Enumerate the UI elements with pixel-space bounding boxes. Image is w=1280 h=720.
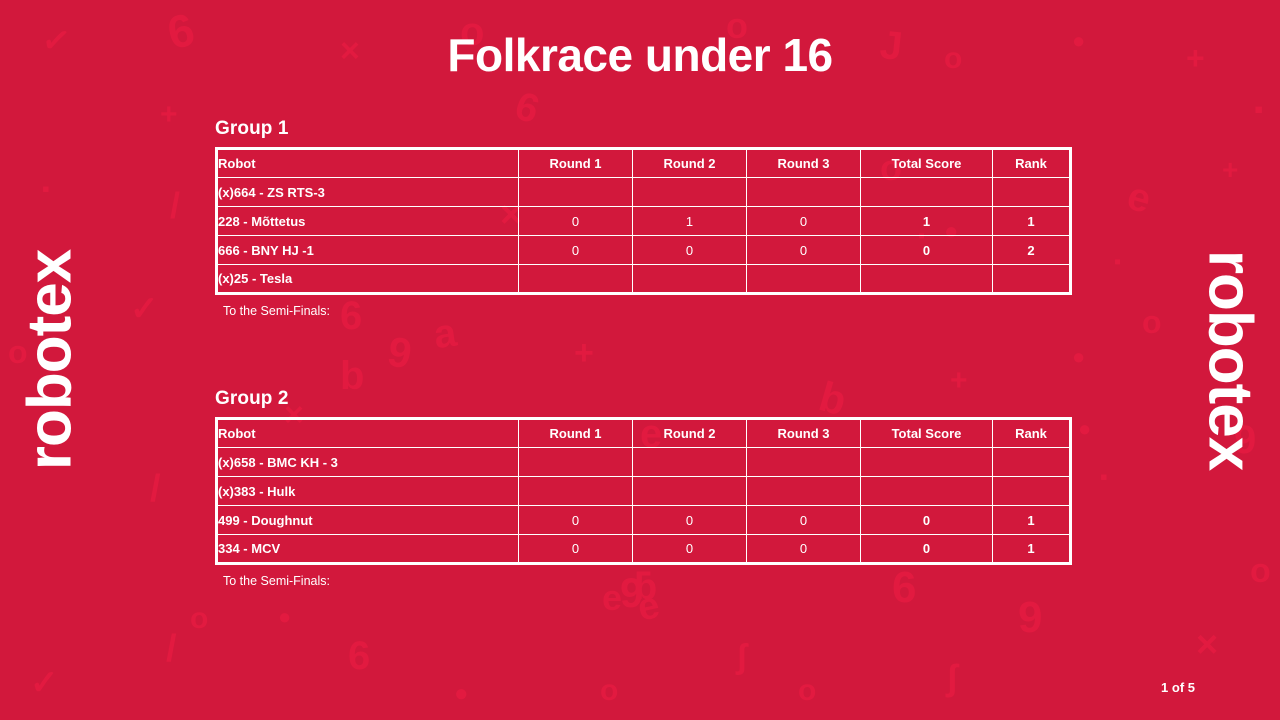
table-row: 499 - Doughnut 0 0 0 0 1 [217,506,1071,535]
cell-round-2: 0 [633,236,747,265]
decor-glyph: × [1196,626,1218,664]
cell-total: 0 [861,535,993,564]
page-title: Folkrace under 16 [0,28,1280,82]
table-header: Robot Round 1 Round 2 Round 3 Total Scor… [217,419,1071,448]
cell-round-1: 0 [519,236,633,265]
table-row: (x)664 - ZS RTS-3 [217,178,1071,207]
cell-round-3 [747,265,861,294]
table-header-row: Robot Round 1 Round 2 Round 3 Total Scor… [217,149,1071,178]
decor-glyph: / [166,630,177,668]
cell-rank [993,265,1071,294]
cell-round-1 [519,178,633,207]
results-table-group-1: Robot Round 1 Round 2 Round 3 Total Scor… [215,147,1072,295]
cell-robot: 334 - MCV [217,535,519,564]
cell-round-2: 0 [633,535,747,564]
cell-total [861,178,993,207]
column-header-round-1: Round 1 [519,149,633,178]
table-row: (x)25 - Tesla [217,265,1071,294]
cell-rank: 1 [993,506,1071,535]
decor-glyph: o [600,676,618,706]
cell-round-1 [519,448,633,477]
cell-rank [993,448,1071,477]
cell-total [861,448,993,477]
cell-robot: (x)658 - BMC KH - 3 [217,448,519,477]
cell-total [861,477,993,506]
column-header-round-2: Round 2 [633,149,747,178]
decor-glyph: ʃ [946,660,958,696]
page-indicator: 1 of 5 [1161,680,1195,695]
table-row: 666 - BNY HJ -1 0 0 0 0 2 [217,236,1071,265]
column-header-total-score: Total Score [861,149,993,178]
decor-glyph: ▪ [42,178,50,200]
table-row: (x)658 - BMC KH - 3 [217,448,1071,477]
robotex-logo-left: robotex [15,250,86,470]
cell-round-1: 0 [519,207,633,236]
cell-round-1 [519,265,633,294]
column-header-round-3: Round 3 [747,419,861,448]
decor-glyph: 9 [1018,596,1042,640]
cell-robot: 228 - Mõttetus [217,207,519,236]
table-row: (x)383 - Hulk [217,477,1071,506]
cell-round-3 [747,477,861,506]
decor-glyph: + [160,100,178,130]
decor-glyph: ▪ [1114,252,1121,272]
cell-round-2 [633,448,747,477]
group-heading: Group 1 [215,118,1070,140]
decor-glyph: ● [1072,346,1085,368]
cell-rank [993,477,1071,506]
decor-glyph: ● [278,606,291,628]
results-table-group-2: Robot Round 1 Round 2 Round 3 Total Scor… [215,417,1072,565]
semi-finals-note: To the Semi-Finals: [215,574,1070,588]
cell-total: 0 [861,236,993,265]
table-row: 334 - MCV 0 0 0 0 1 [217,535,1071,564]
column-header-robot: Robot [217,149,519,178]
decor-glyph: ● [1078,418,1091,440]
column-header-total-score: Total Score [861,419,993,448]
table-header: Robot Round 1 Round 2 Round 3 Total Scor… [217,149,1071,178]
decor-glyph: o [798,676,816,706]
decor-glyph: ✓ [130,292,159,326]
cell-round-2: 0 [633,506,747,535]
cell-round-3: 0 [747,506,861,535]
cell-total [861,265,993,294]
cell-total: 0 [861,506,993,535]
decor-glyph: e [1123,176,1155,221]
cell-rank: 2 [993,236,1071,265]
decor-glyph: ✓ [30,666,59,700]
cell-robot: (x)25 - Tesla [217,265,519,294]
cell-round-3: 0 [747,207,861,236]
table-header-row: Robot Round 1 Round 2 Round 3 Total Scor… [217,419,1071,448]
decor-glyph: / [150,470,161,508]
column-header-round-3: Round 3 [747,149,861,178]
column-header-round-2: Round 2 [633,419,747,448]
decor-glyph: 6 [348,636,370,676]
group-heading: Group 2 [215,388,1070,410]
column-header-rank: Rank [993,419,1071,448]
cell-round-1: 0 [519,506,633,535]
cell-robot: (x)664 - ZS RTS-3 [217,178,519,207]
cell-robot: 499 - Doughnut [217,506,519,535]
cell-round-3: 0 [747,535,861,564]
table-body: (x)664 - ZS RTS-3 228 - Mõttetus 0 1 0 1… [217,178,1071,294]
robotex-logo-right: robotex [1194,250,1265,470]
decor-glyph: o [1142,306,1162,338]
semi-finals-note: To the Semi-Finals: [215,304,1070,318]
cell-round-2 [633,265,747,294]
cell-rank: 1 [993,207,1071,236]
decor-glyph: ● [454,682,469,706]
decor-glyph: ▪ [1254,96,1263,122]
column-header-rank: Rank [993,149,1071,178]
decor-glyph: / [170,188,180,224]
column-header-robot: Robot [217,419,519,448]
results-content: Group 1 Robot Round 1 Round 2 Round 3 To… [215,118,1070,588]
column-header-round-1: Round 1 [519,419,633,448]
cell-round-2 [633,178,747,207]
cell-round-3 [747,178,861,207]
cell-robot: (x)383 - Hulk [217,477,519,506]
cell-rank [993,178,1071,207]
decor-glyph: ʃ [736,640,747,674]
cell-rank: 1 [993,535,1071,564]
table-body: (x)658 - BMC KH - 3 (x)383 - Hulk [217,448,1071,564]
cell-round-2 [633,477,747,506]
group-section-2: Group 2 Robot Round 1 Round 2 Round 3 To… [215,388,1070,588]
cell-round-3 [747,448,861,477]
group-section-1: Group 1 Robot Round 1 Round 2 Round 3 To… [215,118,1070,318]
decor-glyph: + [1222,156,1238,184]
cell-total: 1 [861,207,993,236]
decor-glyph: o [1250,554,1271,588]
cell-robot: 666 - BNY HJ -1 [217,236,519,265]
cell-round-1: 0 [519,535,633,564]
decor-glyph: e [634,586,663,628]
decor-glyph: o [190,604,208,634]
cell-round-1 [519,477,633,506]
table-row: 228 - Mõttetus 0 1 0 1 1 [217,207,1071,236]
decor-glyph: ▪ [1100,466,1108,488]
cell-round-3: 0 [747,236,861,265]
cell-round-2: 1 [633,207,747,236]
